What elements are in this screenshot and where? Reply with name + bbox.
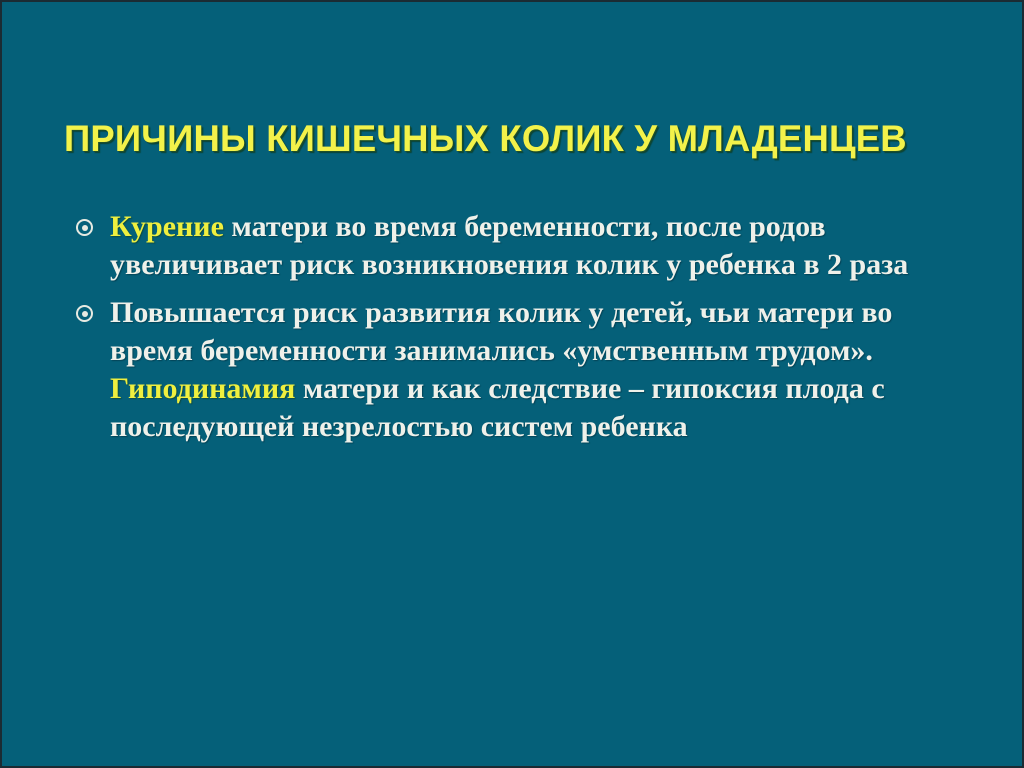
slide-canvas: ПРИЧИНЫ КИШЕЧНЫХ КОЛИК У МЛАДЕНЦЕВ Курен…	[0, 0, 1024, 768]
list-item: Курение матери во время беременности, по…	[76, 208, 956, 284]
list-item: Повышается риск развития колик у детей, …	[76, 294, 956, 446]
highlighted-term: Курение	[110, 210, 224, 243]
circled-dot-icon	[76, 219, 93, 236]
bullet-list: Курение матери во время беременности, по…	[76, 208, 956, 446]
page-title: ПРИЧИНЫ КИШЕЧНЫХ КОЛИК У МЛАДЕНЦЕВ	[64, 117, 970, 161]
bullet-text: матери во время беременности, после родо…	[110, 210, 908, 281]
highlighted-term: Гиподинамия	[110, 372, 295, 405]
bullet-text: Повышается риск развития колик у детей, …	[110, 296, 892, 367]
circled-dot-icon	[76, 305, 93, 322]
